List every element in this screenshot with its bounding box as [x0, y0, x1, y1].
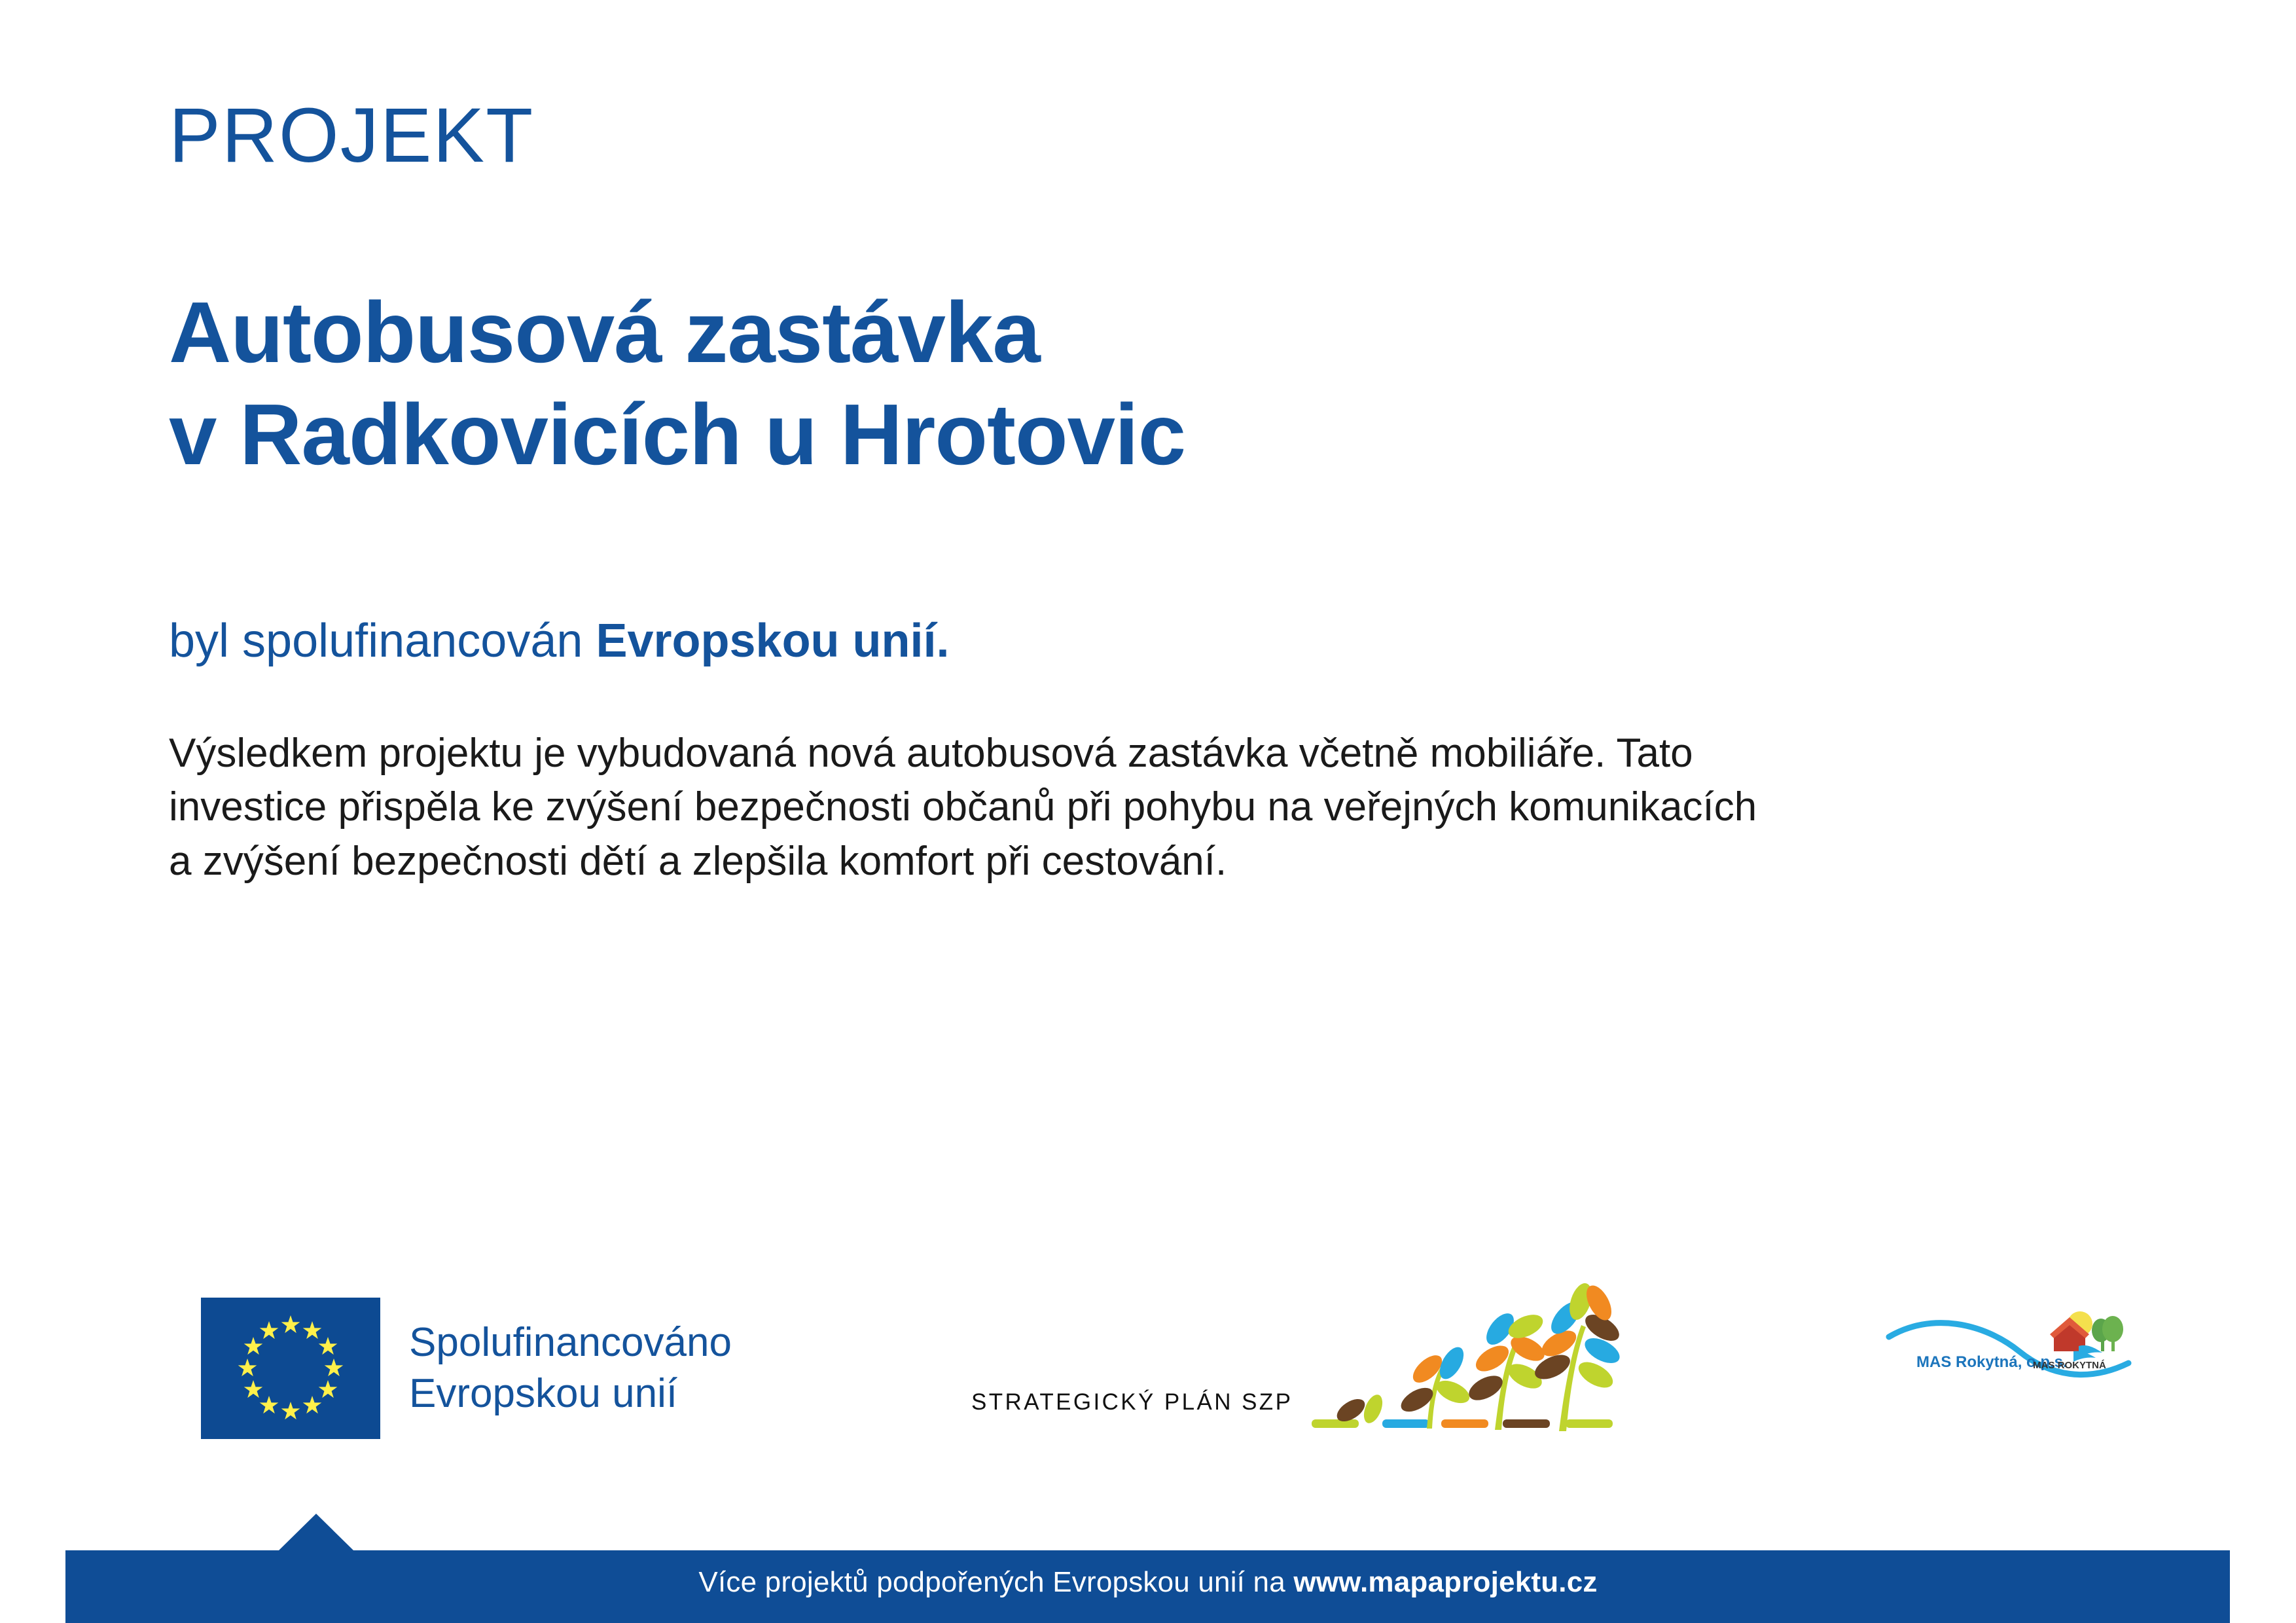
page-subtitle-strong: Evropskou unií. — [596, 615, 949, 667]
szp-logo-label: STRATEGICKÝ PLÁN SZP — [971, 1389, 1293, 1415]
eu-flag-icon — [201, 1298, 380, 1439]
body-line-2: investice přispěla ke zvýšení bezpečnost… — [169, 780, 1936, 834]
body-line-1: Výsledkem projektu je vybudovaná nová au… — [169, 727, 1936, 780]
eu-logo-text: Spolufinancováno Evropskou unií — [409, 1317, 732, 1419]
eu-logo-line-2: Evropskou unií — [409, 1368, 732, 1419]
footer-text-prefix: Více projektů podpořených Evropskou unií… — [698, 1566, 1293, 1598]
page-kicker: PROJEKT — [169, 97, 534, 174]
poster-page: PROJEKT Autobusová zastávka v Radkovicíc… — [0, 0, 2296, 1623]
page-title: Autobusová zastávka v Radkovicích u Hrot… — [169, 282, 1185, 486]
eu-cofunding-logo: Spolufinancováno Evropskou unií — [201, 1298, 732, 1439]
mas-rokytna-logo: MAS Rokytná, o.p.s. MAS ROKYTNÁ — [1885, 1283, 2147, 1401]
page-title-line-2: v Radkovicích u Hrotovic — [169, 384, 1185, 486]
footer-arrow-icon — [278, 1514, 354, 1551]
szp-growing-plants-icon — [1312, 1270, 1659, 1437]
footer-url[interactable]: www.mapaprojektu.cz — [1293, 1566, 1597, 1598]
body-line-3: a zvýšení bezpečnosti dětí a zlepšila ko… — [169, 835, 1936, 888]
page-body-text: Výsledkem projektu je vybudovaná nová au… — [169, 727, 1936, 888]
mas-badge-icon: MAS ROKYTNÁ — [2033, 1311, 2123, 1371]
footer-text: Více projektů podpořených Evropskou unií… — [0, 1566, 2296, 1599]
eu-stars-icon — [201, 1298, 380, 1439]
page-subtitle: byl spolufinancován Evropskou unií. — [169, 615, 950, 667]
page-title-line-1: Autobusová zastávka — [169, 282, 1185, 384]
eu-logo-line-1: Spolufinancováno — [409, 1317, 732, 1368]
szp-strategic-plan-logo: STRATEGICKÝ PLÁN SZP — [971, 1270, 1659, 1447]
page-subtitle-prefix: byl spolufinancován — [169, 615, 596, 667]
logo-strip: Spolufinancováno Evropskou unií STRATEGI… — [0, 1270, 2296, 1467]
mas-badge-text: MAS ROKYTNÁ — [2033, 1360, 2106, 1371]
